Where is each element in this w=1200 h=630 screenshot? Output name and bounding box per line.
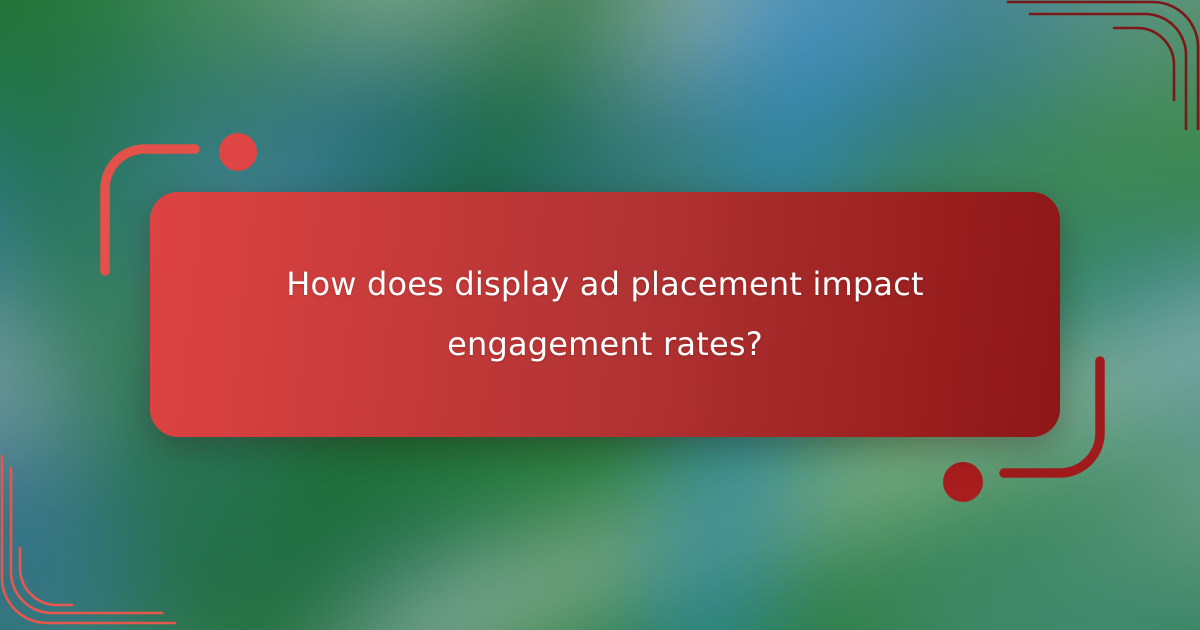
question-text: How does display ad placement impact eng… bbox=[225, 255, 985, 373]
question-card: How does display ad placement impact eng… bbox=[150, 192, 1060, 437]
circle-dot-icon bbox=[943, 462, 983, 502]
question-card-graphic: How does display ad placement impact eng… bbox=[0, 0, 1200, 630]
nested-corner-lines-icon bbox=[990, 0, 1200, 130]
circle-dot-icon bbox=[219, 133, 257, 171]
nested-corner-lines-icon bbox=[0, 430, 220, 630]
